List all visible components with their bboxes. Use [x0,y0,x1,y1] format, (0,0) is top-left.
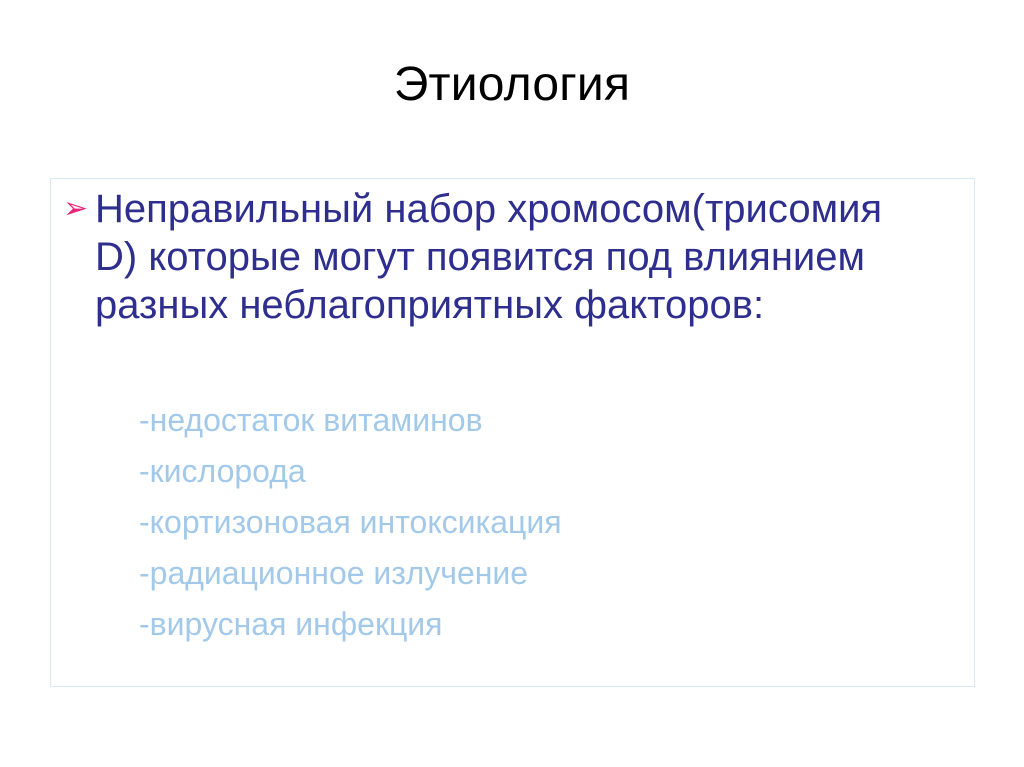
list-item: -вирусная инфекция [139,599,919,650]
content-frame: ➢ Неправильный набор хромосом(трисомия D… [50,178,975,687]
arrowhead-bullet-icon: ➢ [61,185,95,233]
primary-bullet-text: Неправильный набор хромосом(трисомия D) … [95,185,915,329]
page-title: Этиология [0,56,1024,114]
list-item: -кортизоновая интоксикация [139,497,919,548]
list-item: -радиационное излучение [139,548,919,599]
list-item: -недостаток витаминов [139,395,919,446]
primary-bullet-item: ➢ Неправильный набор хромосом(трисомия D… [61,185,961,329]
slide-canvas: Этиология ➢ Неправильный набор хромосом(… [0,0,1024,767]
sub-item-list: -недостаток витаминов -кислорода -кортиз… [139,395,919,650]
list-item: -кислорода [139,446,919,497]
